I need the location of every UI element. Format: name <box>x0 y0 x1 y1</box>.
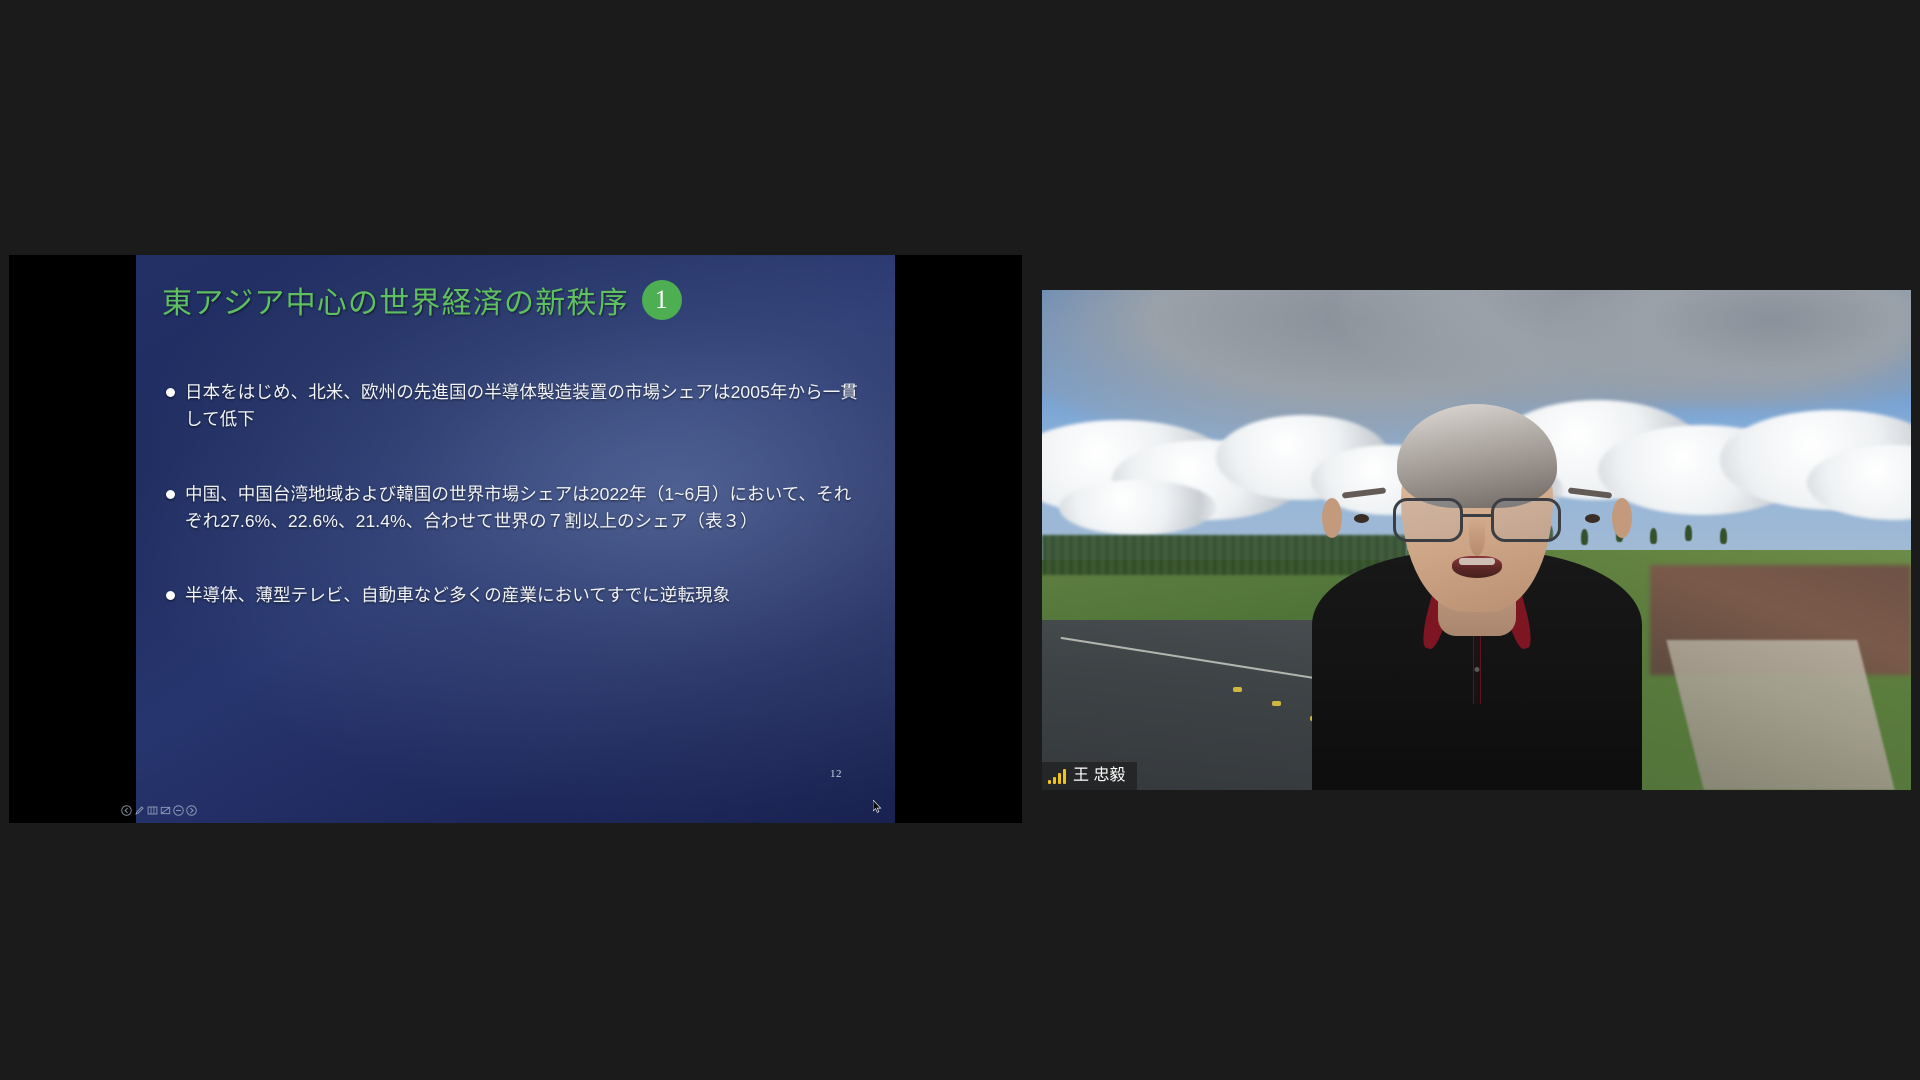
slide-title-text: 東アジア中心の世界経済の新秩序 <box>162 278 629 322</box>
more-options-icon[interactable] <box>173 805 184 816</box>
slide-bullet-item: 日本をはじめ、北米、欧州の先進国の半導体製造装置の市場シェアは2005年から一貫… <box>161 379 861 432</box>
slide-title-badge: 1 <box>642 280 682 320</box>
presentation-slide[interactable]: 東アジア中心の世界経済の新秩序 1 日本をはじめ、北米、欧州の先進国の半導体製造… <box>136 255 895 823</box>
eye-left <box>1354 514 1369 523</box>
eyebrow-left <box>1341 487 1385 498</box>
pen-icon[interactable] <box>134 805 145 816</box>
ear-right <box>1612 498 1632 538</box>
network-signal-icon <box>1048 769 1066 784</box>
presenter-toolbar[interactable] <box>121 805 197 816</box>
participant-name-text: 王 忠毅 <box>1073 766 1125 786</box>
slide-bullet-list: 日本をはじめ、北米、欧州の先進国の半導体製造装置の市場シェアは2005年から一貫… <box>161 379 861 609</box>
slide-title: 東アジア中心の世界経済の新秩序 1 <box>162 278 682 322</box>
previous-slide-icon[interactable] <box>121 805 132 816</box>
laser-pointer-icon[interactable] <box>160 805 171 816</box>
participant-person <box>1312 380 1642 790</box>
hair <box>1397 404 1557 508</box>
footpath <box>1666 640 1895 790</box>
slide-bullet-item: 中国、中国台湾地域および韓国の世界市場シェアは2022年（1~6月）において、そ… <box>161 481 861 534</box>
teeth <box>1459 558 1495 565</box>
slide-bullet-item: 半導体、薄型テレビ、自動車など多くの産業においてすでに逆転現象 <box>161 582 861 609</box>
shared-screen-area[interactable]: 東アジア中心の世界経済の新秩序 1 日本をはじめ、北米、欧州の先進国の半導体製造… <box>9 255 1022 823</box>
eye-right <box>1585 514 1600 523</box>
video-conference-screen: 東アジア中心の世界経済の新秩序 1 日本をはじめ、北米、欧州の先進国の半導体製造… <box>0 0 1920 1080</box>
nose <box>1469 518 1485 556</box>
mouse-cursor <box>873 800 882 813</box>
slide-page-number: 12 <box>830 768 842 780</box>
virtual-background <box>1042 290 1911 790</box>
participant-name-label: 王 忠毅 <box>1042 762 1137 790</box>
ear-left <box>1322 498 1342 538</box>
slide-grid-icon[interactable] <box>147 805 158 816</box>
next-slide-icon[interactable] <box>186 805 197 816</box>
eyebrow-right <box>1567 487 1611 498</box>
participant-video-tile[interactable]: 王 忠毅 <box>1042 290 1911 790</box>
